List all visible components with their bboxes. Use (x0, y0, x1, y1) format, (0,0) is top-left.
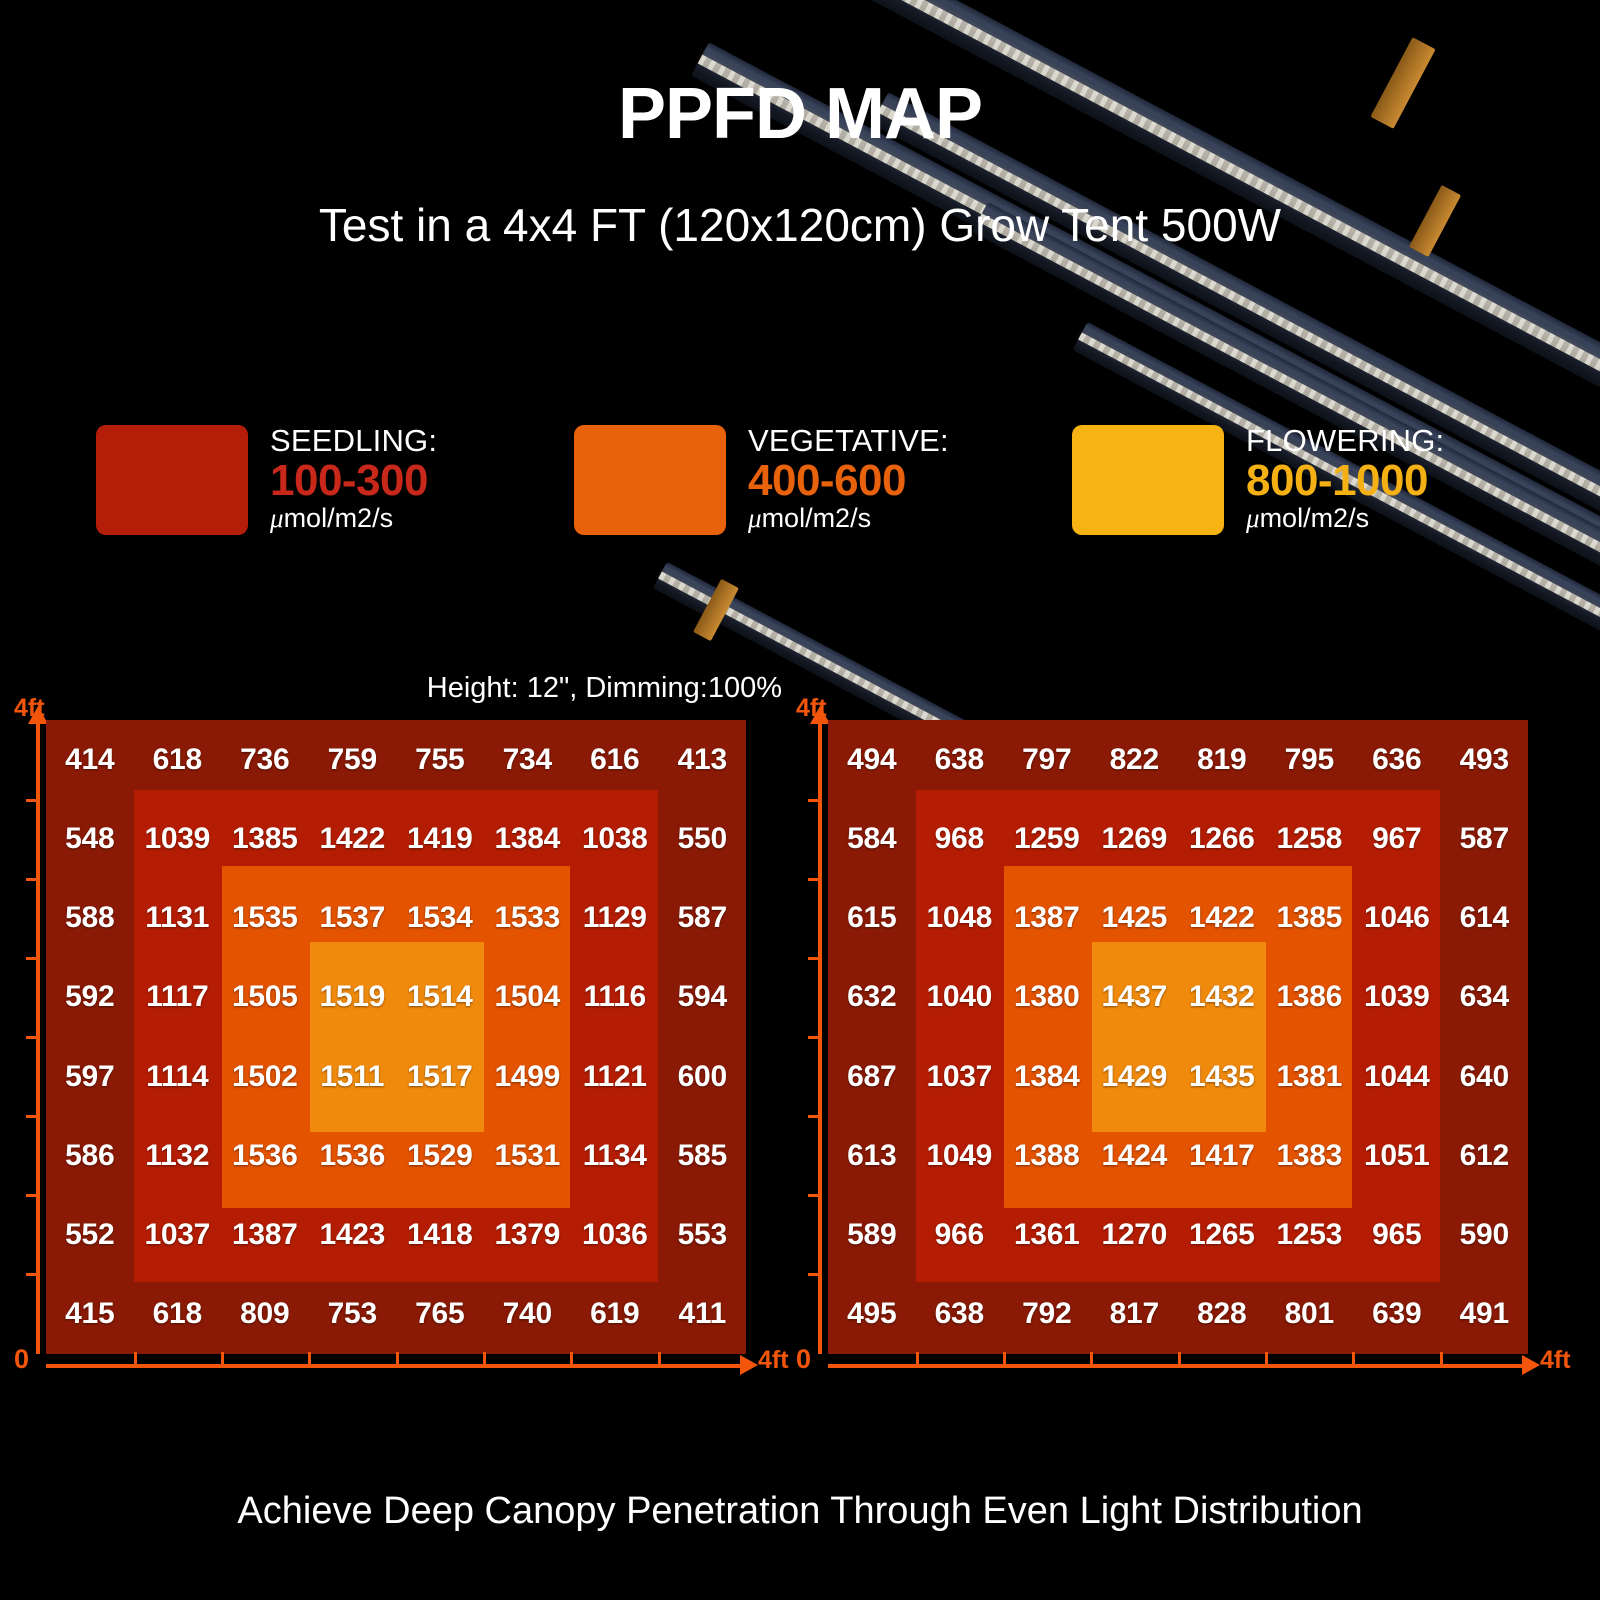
heatmap-cell: 1517 (396, 1037, 484, 1116)
legend-item-seedling: SEEDLING: 100-300 μmol/m2/s (96, 425, 437, 535)
heatmap-cell: 817 (1091, 1275, 1179, 1354)
heatmap-cell: 734 (484, 720, 572, 799)
heatmap-cell: 491 (1441, 1275, 1529, 1354)
heatmap-cell: 822 (1091, 720, 1179, 799)
legend-item-vegetative: VEGETATIVE: 400-600 μmol/m2/s (574, 425, 949, 535)
heatmap-cell: 1388 (1003, 1116, 1091, 1195)
heatmap-cell: 1386 (1266, 958, 1354, 1037)
heatmap-cell: 1129 (571, 879, 659, 958)
heatmap-cell: 636 (1353, 720, 1441, 799)
heatmap-cell: 967 (1353, 799, 1441, 878)
units-text: mol/m2/s (1260, 503, 1370, 533)
x-axis-tick (1090, 1352, 1093, 1364)
x-axis-tick (396, 1352, 399, 1364)
legend-swatch-flowering (1072, 425, 1224, 535)
heatmap-cell: 615 (828, 879, 916, 958)
heatmap-cell: 736 (221, 720, 309, 799)
page-subtitle: Test in a 4x4 FT (120x120cm) Grow Tent 5… (0, 200, 1600, 251)
heatmap-cell: 759 (309, 720, 397, 799)
heatmap-cell: 553 (659, 1196, 747, 1275)
heatmap-cell: 1387 (1003, 879, 1091, 958)
heatmap-cell: 1265 (1178, 1196, 1266, 1275)
page-title: PPFD MAP (0, 78, 1600, 150)
heatmap-cell: 590 (1441, 1196, 1529, 1275)
heatmap-cell: 753 (309, 1275, 397, 1354)
x-axis-tick (1003, 1352, 1006, 1364)
heatmap-cell: 1266 (1178, 799, 1266, 878)
legend-units-label: μmol/m2/s (1246, 504, 1444, 534)
legend-units-label: μmol/m2/s (748, 504, 949, 534)
x-axis-origin-label: 0 (14, 1344, 29, 1375)
heatmap-cell: 1529 (396, 1116, 484, 1195)
heatmap-cell: 687 (828, 1037, 916, 1116)
heatmap-cell: 1385 (1266, 879, 1354, 958)
heatmap-cell: 1419 (396, 799, 484, 878)
heatmap-cell: 1381 (1266, 1037, 1354, 1116)
heatmap-cell: 1423 (309, 1196, 397, 1275)
y-axis-tick (808, 1036, 820, 1039)
x-axis-tick (658, 1352, 661, 1364)
heatmap-cell: 600 (659, 1037, 747, 1116)
x-axis-tick (1178, 1352, 1181, 1364)
legend-units-label: μmol/m2/s (270, 504, 437, 534)
heatmap-cell: 797 (1003, 720, 1091, 799)
heatmap-cell: 965 (1353, 1196, 1441, 1275)
x-axis-tick (1352, 1352, 1355, 1364)
y-axis-tick (26, 1273, 38, 1276)
mu-symbol: μ (748, 503, 762, 533)
heatmap-cell: 411 (659, 1275, 747, 1354)
legend-stage-label: FLOWERING: (1246, 425, 1444, 458)
heatmap-cell: 1502 (221, 1037, 309, 1116)
heatmap-cell: 1131 (134, 879, 222, 958)
legend-range-value: 100-300 (270, 458, 437, 504)
units-text: mol/m2/s (762, 503, 872, 533)
legend-range-value: 400-600 (748, 458, 949, 504)
heatmap-cell: 1417 (1178, 1116, 1266, 1195)
heatmap-cell: 415 (46, 1275, 134, 1354)
heatmap-cell: 640 (1441, 1037, 1529, 1116)
heatmap-cell: 618 (134, 720, 222, 799)
y-axis-tick (808, 799, 820, 802)
heatmap-cell: 1383 (1266, 1116, 1354, 1195)
y-axis-tick (26, 878, 38, 881)
heatmap-cell: 1387 (221, 1196, 309, 1275)
x-axis-line (46, 1364, 746, 1368)
heatmap-cell: 587 (1441, 799, 1529, 878)
heatmap-cell: 740 (484, 1275, 572, 1354)
heatmap-cell: 1511 (309, 1037, 397, 1116)
heatmap-cell: 966 (916, 1196, 1004, 1275)
units-text: mol/m2/s (284, 503, 394, 533)
heatmap-cell: 1044 (1353, 1037, 1441, 1116)
heatmap-cell: 585 (659, 1116, 747, 1195)
mu-symbol: μ (270, 503, 284, 533)
y-axis-tick (808, 1115, 820, 1118)
heatmap-cell: 592 (46, 958, 134, 1037)
heatmap-cell: 619 (571, 1275, 659, 1354)
heatmap-cell: 792 (1003, 1275, 1091, 1354)
y-axis-tick (26, 1115, 38, 1118)
heatmap-cell: 1270 (1091, 1196, 1179, 1275)
heatmap-cell: 1422 (309, 799, 397, 878)
heatmap-cell: 1424 (1091, 1116, 1179, 1195)
heatmap-cell: 1437 (1091, 958, 1179, 1037)
heatmap-cell: 1259 (1003, 799, 1091, 878)
heatmap-cell: 638 (916, 720, 1004, 799)
heatmap-cell: 1514 (396, 958, 484, 1037)
heatmap-cell: 616 (571, 720, 659, 799)
heatmap-cell: 1379 (484, 1196, 572, 1275)
heatmap-cell: 1425 (1091, 879, 1179, 958)
heatmap-cell: 587 (659, 879, 747, 958)
y-axis-tick (808, 957, 820, 960)
heatmap-cell: 1384 (1003, 1037, 1091, 1116)
heatmap-cell: 1114 (134, 1037, 222, 1116)
heatmap-cell: 1504 (484, 958, 572, 1037)
heatmap-cell: 594 (659, 958, 747, 1037)
heatmap-cell: 1117 (134, 958, 222, 1037)
heatmap-cell: 1116 (571, 958, 659, 1037)
heatmap-cell: 1253 (1266, 1196, 1354, 1275)
heatmap-cell: 495 (828, 1275, 916, 1354)
heatmap-cell: 1531 (484, 1116, 572, 1195)
y-axis-tick (808, 1273, 820, 1276)
y-axis-tick (26, 1194, 38, 1197)
heatmap-cell: 1036 (571, 1196, 659, 1275)
heatmap-cell: 1037 (916, 1037, 1004, 1116)
y-axis-tick (26, 957, 38, 960)
heatmap-cell: 1258 (1266, 799, 1354, 878)
heatmap-cell: 1049 (916, 1116, 1004, 1195)
heatmap-cell: 755 (396, 720, 484, 799)
legend-range-value: 800-1000 (1246, 458, 1444, 504)
heatmap-cell: 1048 (916, 879, 1004, 958)
heatmap-cell: 550 (659, 799, 747, 878)
ppfd-legend: SEEDLING: 100-300 μmol/m2/s VEGETATIVE: … (0, 425, 1600, 555)
heatmap-cell: 1536 (221, 1116, 309, 1195)
heatmap-cell: 614 (1441, 879, 1529, 958)
heatmap-cell: 494 (828, 720, 916, 799)
heatmap-cell: 1361 (1003, 1196, 1091, 1275)
x-axis-tick (483, 1352, 486, 1364)
heatmap-cell: 1380 (1003, 958, 1091, 1037)
heatmap-cell: 801 (1266, 1275, 1354, 1354)
heatmap-cell: 1121 (571, 1037, 659, 1116)
heatmap-cell: 634 (1441, 958, 1529, 1037)
heatmap-cell: 1534 (396, 879, 484, 958)
y-axis-tick (26, 799, 38, 802)
heatmap-cell: 493 (1441, 720, 1529, 799)
heatmap-cell: 1039 (1353, 958, 1441, 1037)
x-axis-tick (1265, 1352, 1268, 1364)
heatmap-cell: 968 (916, 799, 1004, 878)
heatmap-cell: 586 (46, 1116, 134, 1195)
heatmap-cell: 1435 (1178, 1037, 1266, 1116)
x-axis-tick (308, 1352, 311, 1364)
heatmap-cell: 618 (134, 1275, 222, 1354)
heatmap-cell: 548 (46, 799, 134, 878)
heatmap-cell: 552 (46, 1196, 134, 1275)
heatmap-cell: 1418 (396, 1196, 484, 1275)
x-axis-tick (134, 1352, 137, 1364)
heatmap-cell: 639 (1353, 1275, 1441, 1354)
heatmap-cell: 1384 (484, 799, 572, 878)
heatmap-cell: 1499 (484, 1037, 572, 1116)
heatmap-cell: 828 (1178, 1275, 1266, 1354)
map-header-label: Height: 12", Dimming:100% (427, 672, 782, 705)
heatmap-grid: 4146187367597557346164135481039138514221… (46, 720, 746, 1354)
x-axis-line (828, 1364, 1528, 1368)
heatmap-cell: 1505 (221, 958, 309, 1037)
heatmap-cell: 1422 (1178, 879, 1266, 958)
heatmap-cell: 1040 (916, 958, 1004, 1037)
heatmap-cell: 589 (828, 1196, 916, 1275)
x-axis-tick (1440, 1352, 1443, 1364)
x-axis-end-label: 4ft (758, 1346, 789, 1375)
heatmap-cell: 1536 (309, 1116, 397, 1195)
legend-stage-label: VEGETATIVE: (748, 425, 949, 458)
heatmap-cell: 1038 (571, 799, 659, 878)
heatmap-grid: 4946387978228197956364935849681259126912… (828, 720, 1528, 1354)
heatmap-cell: 1429 (1091, 1037, 1179, 1116)
heatmap-cell: 819 (1178, 720, 1266, 799)
x-axis-arrow-icon (740, 1355, 758, 1375)
heatmap-cell: 1039 (134, 799, 222, 878)
legend-swatch-seedling (96, 425, 248, 535)
heatmap-cell: 1535 (221, 879, 309, 958)
page-caption: Achieve Deep Canopy Penetration Through … (0, 1490, 1600, 1533)
heatmap-cell: 809 (221, 1275, 309, 1354)
heatmap-cell: 1519 (309, 958, 397, 1037)
heatmap-cell: 765 (396, 1275, 484, 1354)
heatmap-cell: 1046 (1353, 879, 1441, 958)
heatmap-cells: 4946387978228197956364935849681259126912… (828, 720, 1528, 1354)
y-axis-tick (808, 1194, 820, 1197)
heatmap-cell: 613 (828, 1116, 916, 1195)
heatmap-cell: 1037 (134, 1196, 222, 1275)
heatmap-cell: 638 (916, 1275, 1004, 1354)
heatmap-cell: 414 (46, 720, 134, 799)
x-axis-tick (221, 1352, 224, 1364)
heatmap-cell: 1537 (309, 879, 397, 958)
y-axis-tick (26, 1036, 38, 1039)
x-axis-tick (916, 1352, 919, 1364)
legend-item-flowering: FLOWERING: 800-1000 μmol/m2/s (1072, 425, 1444, 535)
y-axis-tick (808, 878, 820, 881)
heatmap-cell: 1533 (484, 879, 572, 958)
heatmap-cell: 584 (828, 799, 916, 878)
heatmap-cell: 632 (828, 958, 916, 1037)
heatmap-cell: 413 (659, 720, 747, 799)
x-axis-origin-label: 0 (796, 1344, 811, 1375)
heatmap-cell: 612 (1441, 1116, 1529, 1195)
x-axis-end-label: 4ft (1540, 1346, 1571, 1375)
heatmap-cell: 588 (46, 879, 134, 958)
heatmap-cell: 1385 (221, 799, 309, 878)
x-axis-tick (570, 1352, 573, 1364)
mu-symbol: μ (1246, 503, 1260, 533)
legend-stage-label: SEEDLING: (270, 425, 437, 458)
heatmap-cells: 4146187367597557346164135481039138514221… (46, 720, 746, 1354)
heatmap-cell: 1134 (571, 1116, 659, 1195)
heatmap-cell: 1132 (134, 1116, 222, 1195)
heatmap-cell: 1269 (1091, 799, 1179, 878)
heatmap-cell: 1432 (1178, 958, 1266, 1037)
x-axis-arrow-icon (1522, 1355, 1540, 1375)
heatmap-cell: 795 (1266, 720, 1354, 799)
fixture-endcap (693, 579, 739, 641)
heatmap-cell: 597 (46, 1037, 134, 1116)
legend-swatch-vegetative (574, 425, 726, 535)
heatmap-cell: 1051 (1353, 1116, 1441, 1195)
